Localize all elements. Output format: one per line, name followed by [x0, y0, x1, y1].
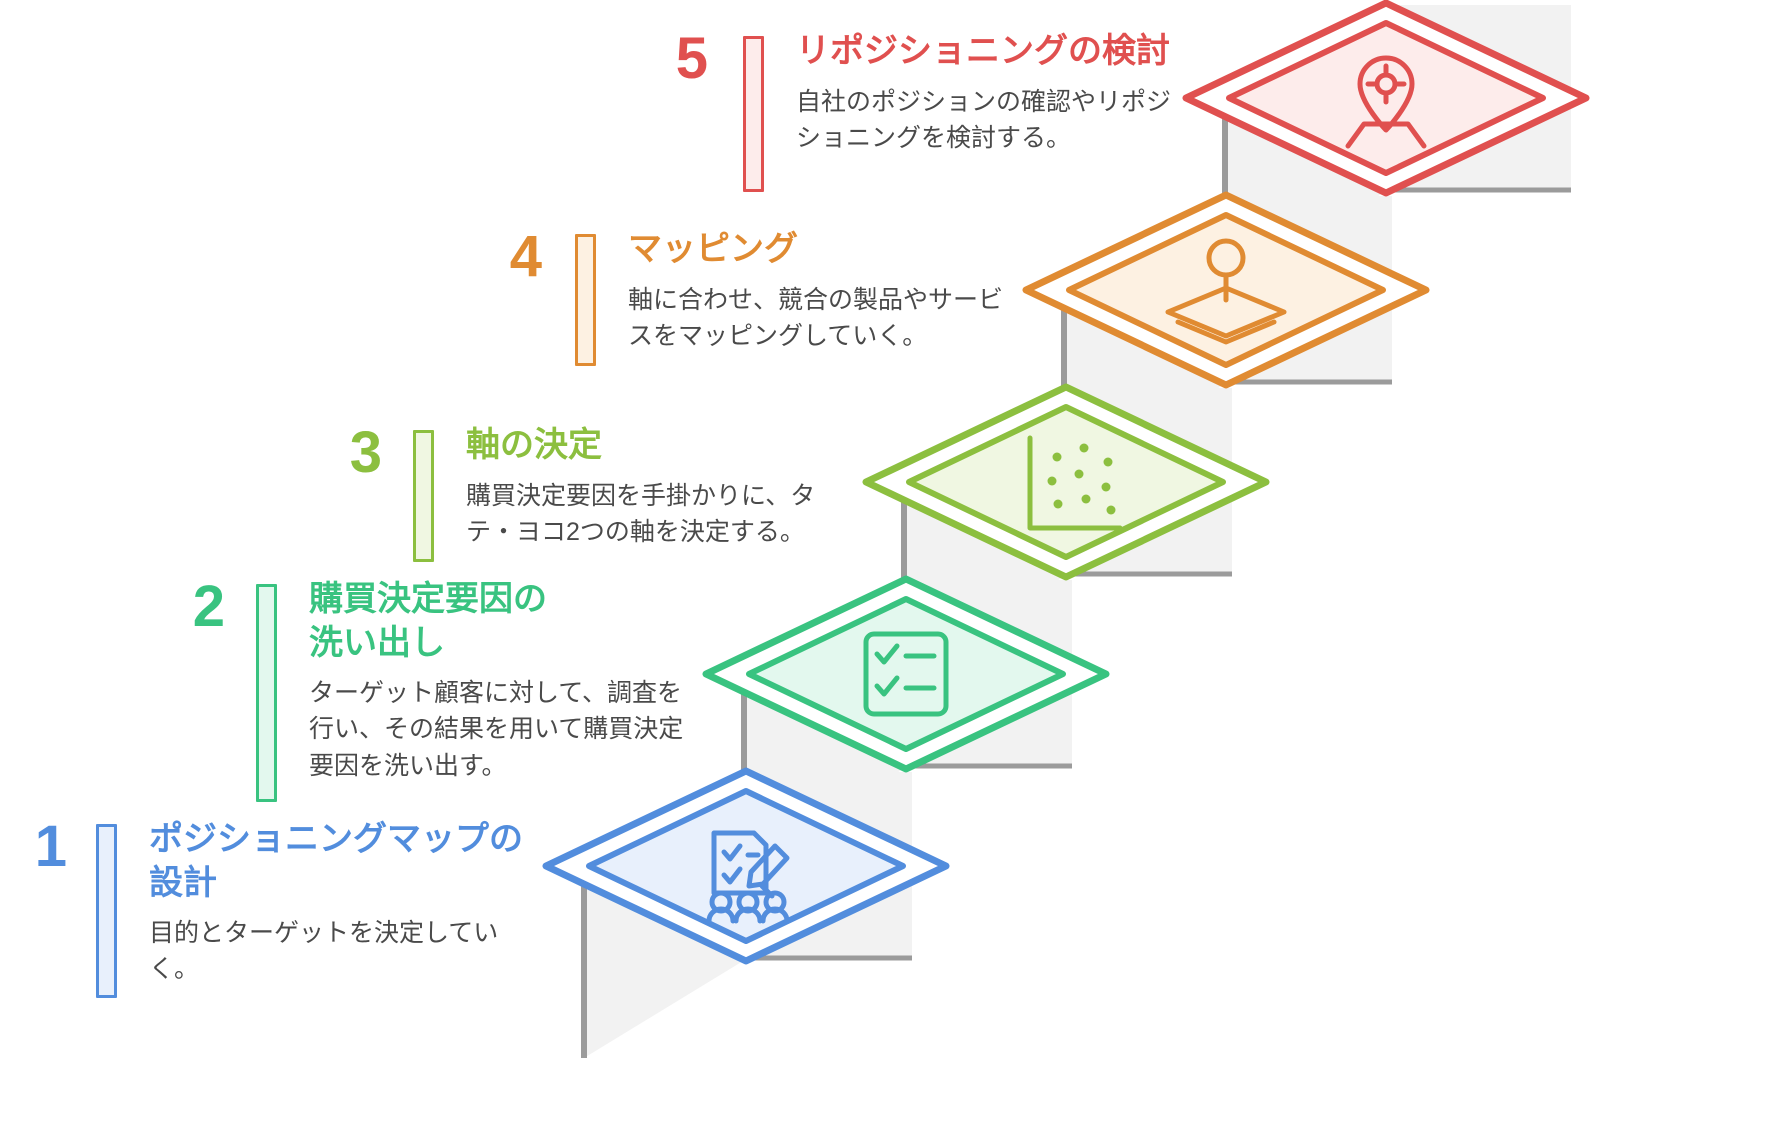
step-text-5: 5 リポジショニングの検討 自社のポジションの確認やリポジ ショニングを検討する…: [637, 30, 1216, 192]
step-description-4: 軸に合わせ、競合の製品やサービ スをマッピングしていく。: [628, 282, 1040, 355]
step-title-4: マッピング: [628, 228, 1040, 272]
step-title-3: 軸の決定: [466, 424, 866, 468]
step-accent-bar-2: [256, 584, 277, 802]
step-number-3: 3: [317, 424, 381, 482]
step-accent-bar-4: [575, 234, 596, 366]
step-text-2: 2 購買決定要因の 洗い出し ターゲット顧客に対して、調査を 行い、その結果を用…: [160, 578, 729, 802]
step-accent-bar-1: [96, 824, 117, 998]
step-number-4: 4: [477, 228, 541, 286]
step-text-4: 4 マッピング 軸に合わせ、競合の製品やサービ スをマッピングしていく。: [477, 228, 1040, 366]
step-description-3: 購買決定要因を手掛かりに、タ テ・ヨコ2つの軸を決定する。: [466, 478, 866, 551]
step-description-2: ターゲット顧客に対して、調査を 行い、その結果を用いて購買決定 要因を洗い出す。: [309, 675, 729, 784]
step-text-3: 3 軸の決定 購買決定要因を手掛かりに、タ テ・ヨコ2つの軸を決定する。: [317, 424, 866, 562]
step-title-2: 購買決定要因の 洗い出し: [309, 578, 729, 665]
step-description-1: 目的とターゲットを決定してい く。: [149, 915, 579, 988]
step-title-5: リポジショニングの検討: [796, 30, 1216, 74]
infographic-canvas: 5 リポジショニングの検討 自社のポジションの確認やリポジ ショニングを検討する…: [0, 0, 1771, 1139]
step-text-1: 1 ポジショニングマップの 設計 目的とターゲットを決定してい く。: [6, 818, 579, 998]
step-title-1: ポジショニングマップの 設計: [149, 818, 579, 905]
step-accent-bar-3: [413, 430, 434, 562]
step-number-5: 5: [637, 30, 707, 88]
step-number-1: 1: [6, 818, 66, 876]
step-accent-bar-5: [743, 36, 764, 192]
step-description-5: 自社のポジションの確認やリポジ ショニングを検討する。: [796, 84, 1216, 157]
step-number-2: 2: [160, 578, 224, 636]
